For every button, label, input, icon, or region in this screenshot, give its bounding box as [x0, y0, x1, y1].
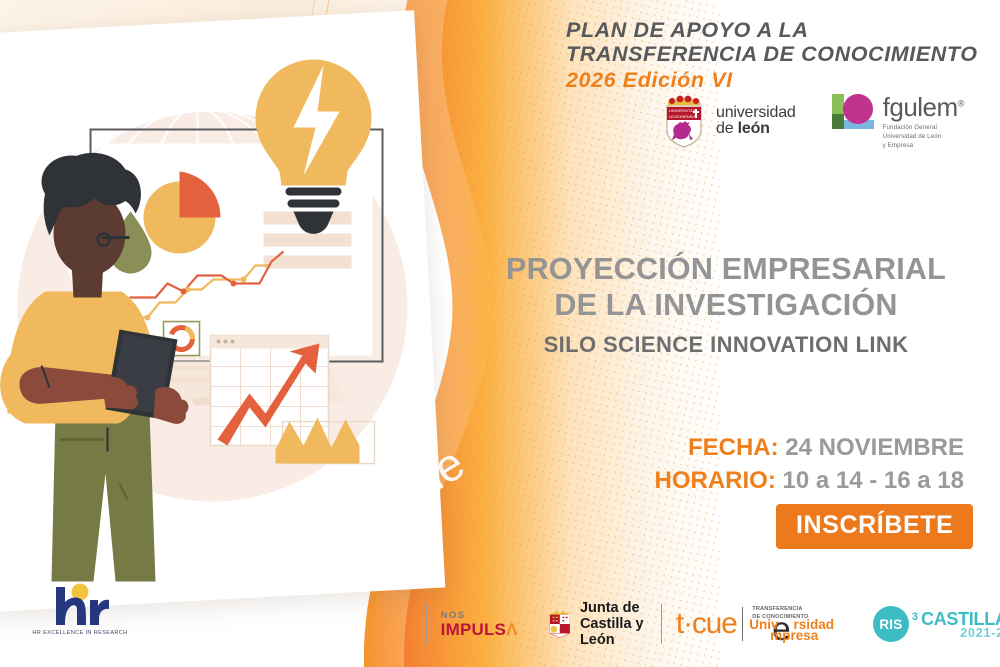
nos-impulsa-logo: NOS IMPULSΛ [441, 611, 518, 639]
ule-line-2: de león [716, 121, 796, 137]
lambda-glyph: Λ [506, 620, 518, 639]
fgulem-subtitle: Fundación General Universidad de León y … [883, 124, 964, 151]
page-subtitle: SILO SCIENCE INNOVATION LINK [470, 332, 982, 358]
horario-label: HORARIO: [655, 467, 776, 494]
poster-root: Plan t·cue PLAN DE APOYO A LA TRANSFEREN… [0, 0, 1000, 667]
nos-impulsa-line-1: NOS [441, 611, 518, 621]
inscribete-button[interactable]: INSCRÍBETE [776, 504, 973, 549]
tcue-vertical-bar [742, 607, 744, 641]
tcue-wordmark: t·cue [676, 609, 737, 639]
fecha-row: FECHA: 24 NOVIEMBRE [470, 432, 964, 465]
fecha-value: 24 NOVIEMBRE [785, 434, 964, 461]
ris3-castillayleon-logo: RIS 3 CASTILLAYLEÓN 2021-2027 [873, 606, 1000, 642]
ule-leon: león [738, 120, 770, 137]
junta-line-2: Castilla y León [580, 616, 647, 648]
organizer-logos: UNIVERSITAS LEGIONENSIS universidad de l… [660, 92, 964, 151]
ule-de: de [716, 120, 733, 137]
tcue-empresa: mpresa [770, 628, 818, 643]
fgulem-wordmark: fgulem® [883, 94, 964, 120]
event-headline: PROYECCIÓN EMPRESARIAL DE LA INVESTIGACI… [470, 252, 982, 358]
title-line-1: PROYECCIÓN EMPRESARIAL [506, 252, 946, 286]
ule-line-1: universidad [716, 105, 796, 121]
nos-impulsa-line-2: IMPULSΛ [441, 621, 518, 638]
fgulem-logo: fgulem® Fundación General Universidad de… [830, 92, 964, 151]
svg-text:UNIVERSITAS: UNIVERSITAS [669, 108, 696, 113]
event-details: FECHA: 24 NOVIEMBRE HORARIO: 10 a 14 - 1… [470, 432, 982, 497]
universidad-de-leon-crest: UNIVERSITAS LEGIONENSIS [660, 92, 708, 150]
hr-mark [26, 583, 134, 629]
tcue-logo: t·cue TRANSFERENCIA DE CONOCIMIENTO e Un… [676, 606, 844, 642]
junta-line-1: Junta de [580, 600, 647, 616]
footer-logo-strip: NOS IMPULSΛ Junta de Castilla y [412, 600, 1000, 649]
horario-value: 10 a 14 - 16 a 18 [783, 467, 964, 494]
ris-text-block: CASTILLAYLEÓN 2021-2027 [921, 610, 1000, 640]
header-line-2: TRANSFERENCIA DE CONOCIMIENTO [566, 42, 986, 66]
svg-text:LEGIONENSIS: LEGIONENSIS [669, 114, 696, 119]
tcue-tagline-block: TRANSFERENCIA DE CONOCIMIENTO e Univeers… [748, 606, 844, 642]
hr-caption: HR EXCELLENCE IN RESEARCH [26, 630, 134, 636]
junta-castilla-leon-logo: Junta de Castilla y León [546, 600, 647, 649]
page-title: PROYECCIÓN EMPRESARIAL DE LA INVESTIGACI… [470, 252, 982, 323]
plan-header: PLAN DE APOYO A LA TRANSFERENCIA DE CONO… [566, 18, 986, 93]
ris-region-name: CASTILLAYLEÓN [921, 610, 1000, 628]
horario-row: HORARIO: 10 a 14 - 16 a 18 [470, 465, 964, 498]
footer-divider-3 [661, 604, 662, 644]
hr-excellence-logo: HR EXCELLENCE IN RESEARCH [26, 583, 134, 636]
fecha-label: FECHA: [688, 434, 779, 461]
fgulem-mark [830, 92, 876, 136]
header-edition: 2026 Edición VI [566, 68, 986, 93]
ris-superscript: 3 [912, 611, 918, 623]
registered-mark: ® [958, 98, 964, 108]
universidad-de-leon-logo: UNIVERSITAS LEGIONENSIS universidad de l… [660, 92, 796, 150]
header-line-1: PLAN DE APOYO A LA [566, 18, 986, 42]
ris-badge: RIS [873, 606, 909, 642]
footer-divider-1 [426, 604, 427, 644]
title-line-2: DE LA INVESTIGACIÓN [554, 288, 897, 322]
junta-crest [546, 601, 574, 647]
